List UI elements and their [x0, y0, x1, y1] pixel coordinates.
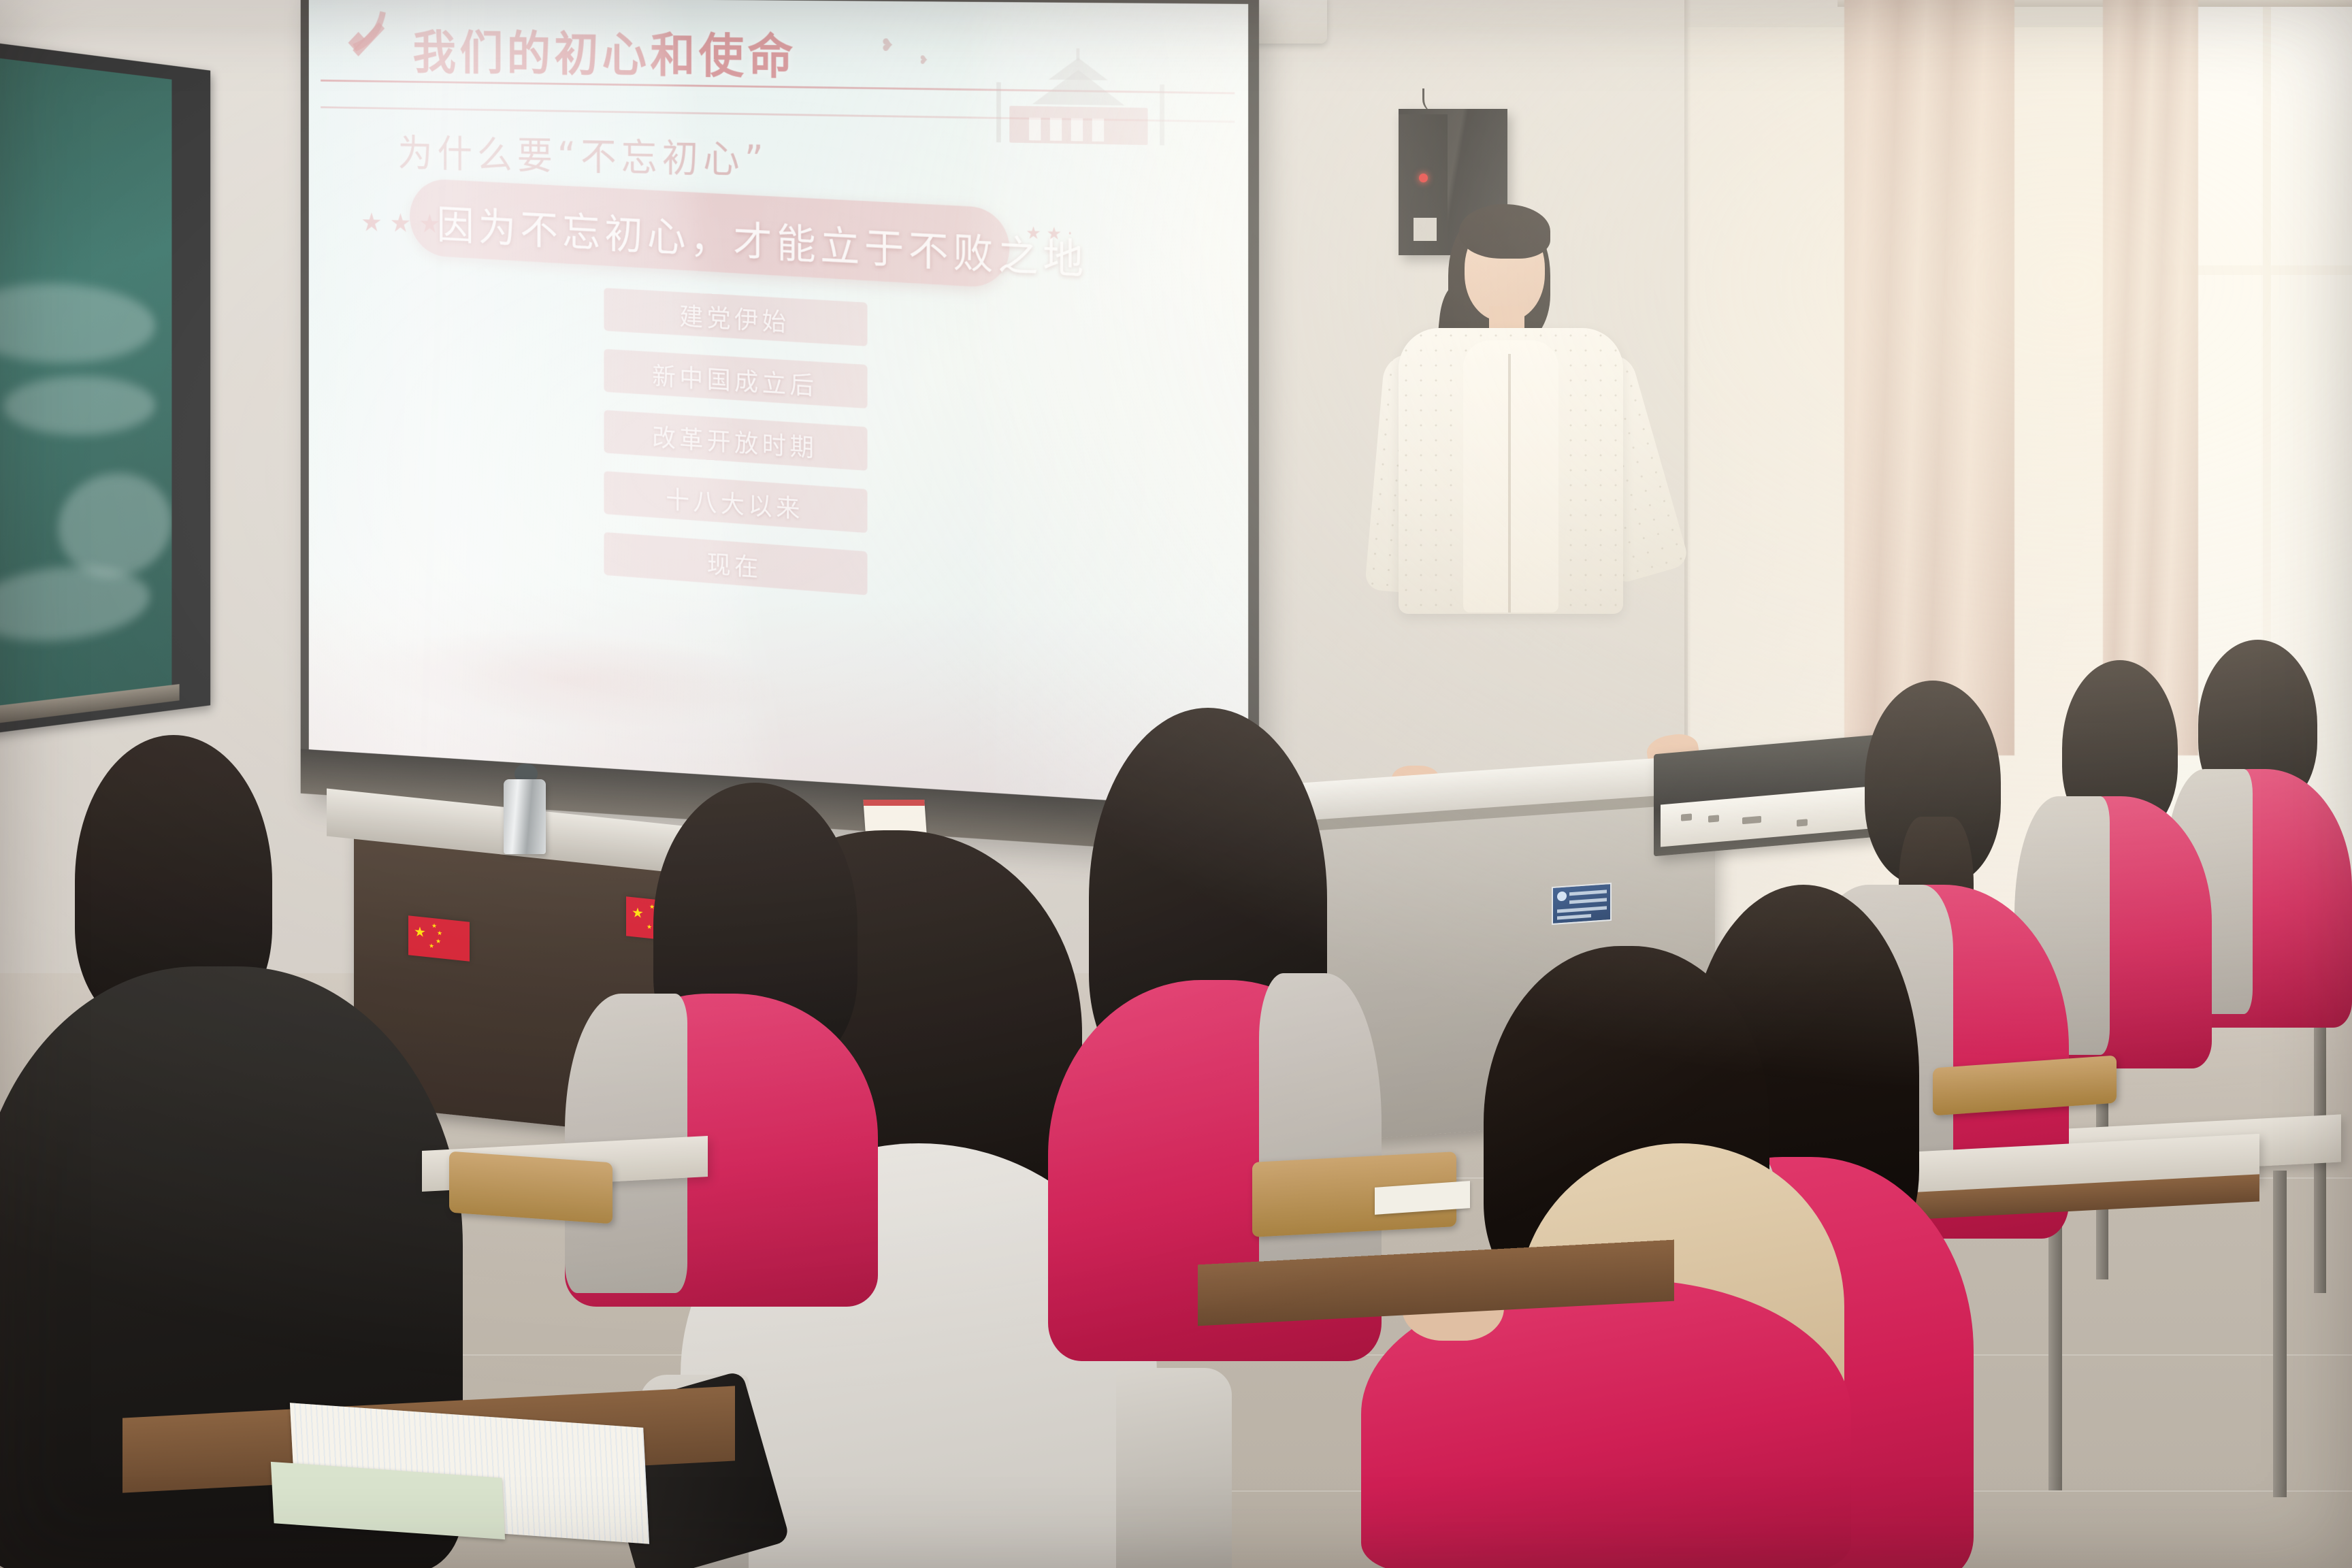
list-item: 现在: [604, 532, 867, 595]
speaker-sensor: [1414, 218, 1437, 241]
chair: [449, 1151, 612, 1224]
classroom-photo: 我们的初心和使命 为什么要“不忘初心”: [0, 0, 2352, 1568]
thermos-flask: [504, 779, 546, 854]
slide-stars-right: ★ ★ ·: [1026, 223, 1073, 244]
list-item: 建党伊始: [604, 288, 867, 346]
slide-surface: 我们的初心和使命 为什么要“不忘初心”: [309, 0, 1248, 809]
note-card: [863, 800, 926, 834]
dove-icon: ❥: [880, 35, 894, 55]
student-uniform-grey: [1259, 973, 1382, 1300]
speaker-led-icon: [1419, 174, 1428, 182]
tiananmen-gate-icon: [970, 42, 1188, 180]
slide-subtitle: 为什么要“不忘初心”: [398, 123, 769, 184]
hoodie-sleeve: [1116, 1368, 1232, 1568]
curtain: [2103, 0, 2198, 755]
dove-icon: ❥: [919, 53, 928, 67]
list-item: 十八大以来: [604, 471, 867, 533]
slide-chip-list: 建党伊始 新中国成立后 改革开放时期 十八大以来 现在: [604, 291, 867, 610]
hammer-and-sickle-icon: [342, 7, 399, 69]
slide-title: 我们的初心和使命: [413, 14, 797, 87]
podium-equipment-label: [1552, 883, 1612, 925]
blackboard-surface: [0, 56, 171, 712]
curtain: [1844, 0, 2014, 755]
china-flag-sticker: ★★ ★★ ★: [408, 915, 470, 961]
projection-screen: 我们的初心和使命 为什么要“不忘初心”: [301, 0, 1259, 857]
slide-banner-text: 因为不忘初心，才能立于不败之地: [437, 192, 1088, 287]
slide-banner: 因为不忘初心，才能立于不败之地: [410, 178, 1009, 289]
blackboard: [0, 41, 210, 735]
list-item: 改革开放时期: [604, 410, 867, 470]
list-item: 新中国成立后: [604, 349, 867, 409]
